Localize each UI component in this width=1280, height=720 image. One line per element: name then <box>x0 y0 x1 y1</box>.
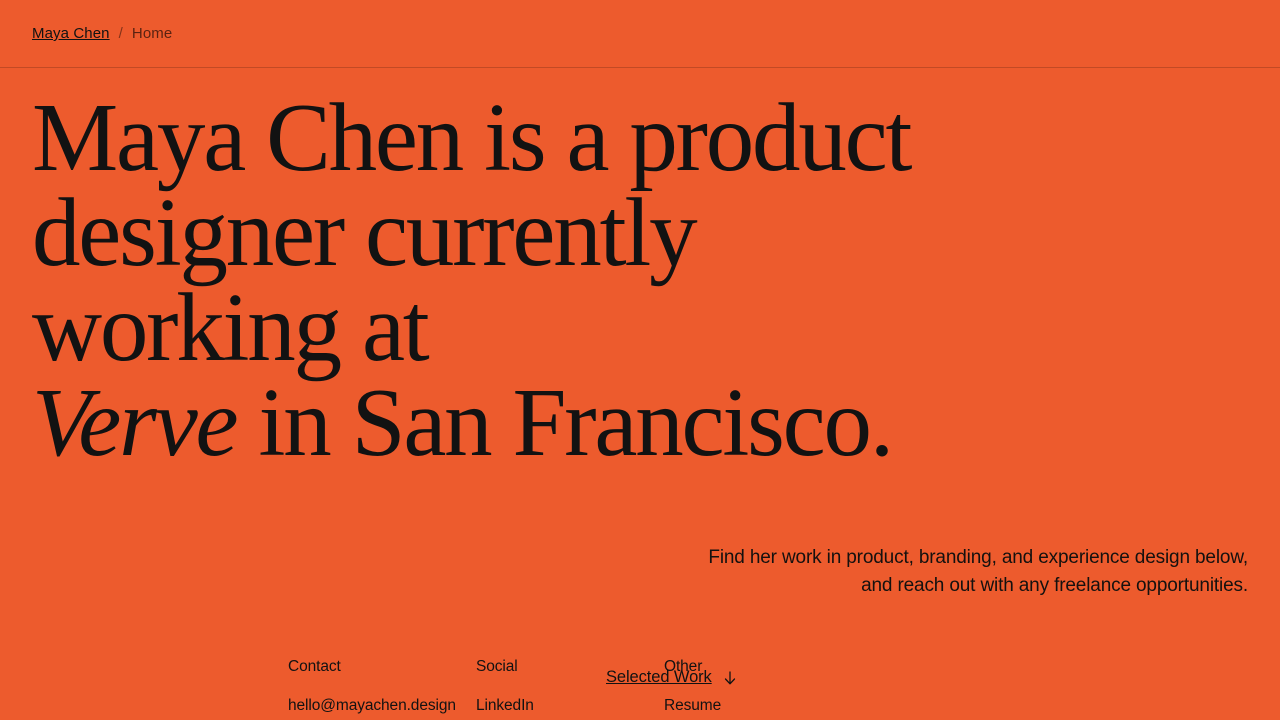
footer-column-contact: Contact hello@mayachen.design <box>288 658 476 720</box>
footer-columns: Contact hello@mayachen.design Social Lin… <box>32 658 1248 720</box>
footer-link-email[interactable]: hello@mayachen.design <box>288 697 476 715</box>
breadcrumb-current: Home <box>132 25 172 42</box>
footer-link-resume[interactable]: Resume <box>664 697 852 715</box>
hero-section: Maya Chen is a product designer currentl… <box>0 68 1280 470</box>
footer-link-linkedin[interactable]: LinkedIn <box>476 697 664 715</box>
arrow-down-icon <box>722 670 738 686</box>
footer: Contact hello@mayachen.design Social Lin… <box>0 658 1280 720</box>
hero-line-1: Maya Chen is a product <box>32 84 910 191</box>
hero-company-name: Verve <box>32 369 236 476</box>
intro-paragraph: Find her work in product, branding, and … <box>703 544 1248 600</box>
selected-work-link[interactable]: Selected Work <box>606 668 738 687</box>
hero-line-3-rest: in San Francisco. <box>236 369 891 476</box>
breadcrumb-root-link[interactable]: Maya Chen <box>32 25 110 42</box>
hero-line-2: designer currently working at <box>32 179 695 381</box>
breadcrumb-separator: / <box>119 25 123 42</box>
breadcrumb: Maya Chen / Home <box>32 25 172 42</box>
footer-heading-contact: Contact <box>288 658 476 676</box>
top-bar: Maya Chen / Home <box>0 0 1280 68</box>
page-title: Maya Chen is a product designer currentl… <box>32 90 992 470</box>
intro-section: Find her work in product, branding, and … <box>0 544 1280 600</box>
selected-work-label: Selected Work <box>606 668 712 687</box>
